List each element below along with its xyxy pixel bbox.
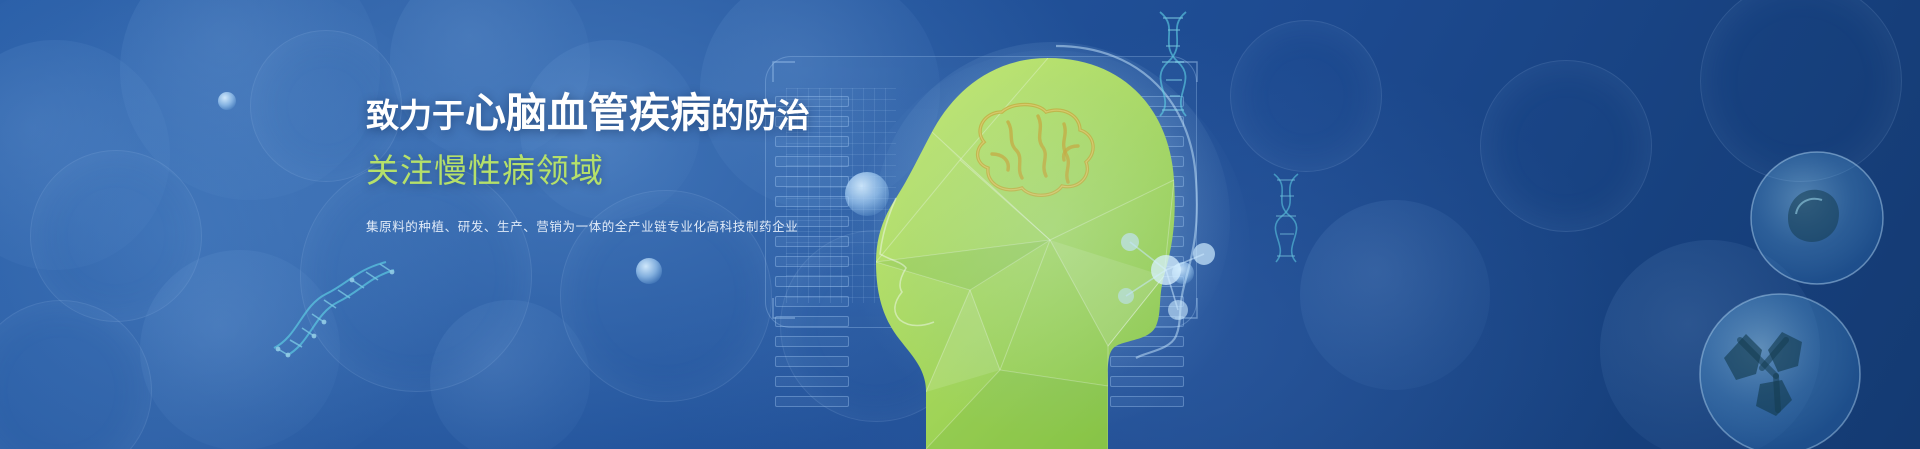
dna-helix-icon (1262, 172, 1318, 264)
virus-cell-graphic-icon (1690, 288, 1870, 449)
dna-helix-icon (1146, 10, 1206, 120)
page-tagline: 集原料的种植、研发、生产、营销为一体的全产业链专业化高科技制药企业 (366, 216, 806, 235)
molecule-graphic-icon (1100, 210, 1230, 330)
hero-banner: 致力于心脑血管疾病的防治 关注慢性病领域 集原料的种植、研发、生产、营销为一体的… (0, 0, 1920, 449)
headline-emphasis: 心脑血管疾病 (465, 90, 711, 136)
page-title: 致力于心脑血管疾病的防治 (366, 92, 806, 135)
dna-helix-icon (268, 252, 398, 362)
bokeh-circle (1300, 200, 1490, 390)
light-chip (636, 258, 662, 284)
cell-graphic-icon (1742, 148, 1892, 288)
light-chip (218, 92, 236, 110)
headline-prefix: 致力于 (366, 97, 465, 134)
headline-suffix: 的防治 (711, 97, 810, 134)
bokeh-circle (1480, 60, 1652, 232)
page-subtitle: 关注慢性病领域 (366, 144, 806, 192)
hero-text-block: 致力于心脑血管疾病的防治 关注慢性病领域 集原料的种植、研发、生产、营销为一体的… (366, 92, 806, 235)
